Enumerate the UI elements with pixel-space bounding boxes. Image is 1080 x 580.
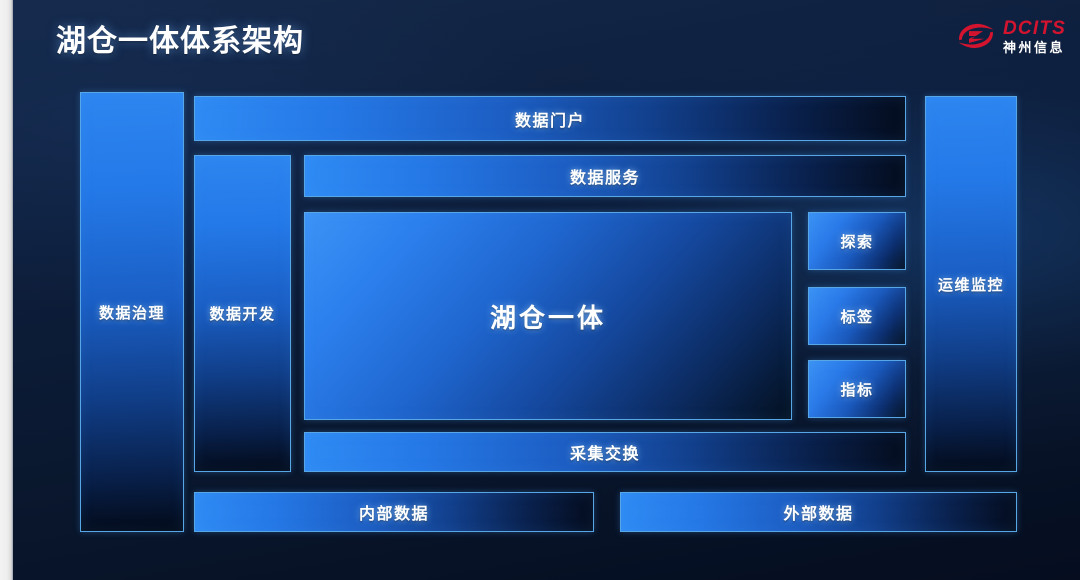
chip-explore-label: 探索: [840, 231, 873, 252]
bar-data-portal[interactable]: 数据门户: [194, 96, 906, 141]
bar-data-service-label: 数据服务: [570, 164, 640, 188]
chip-metric[interactable]: 指标: [808, 360, 906, 418]
bar-data-portal-label: 数据门户: [515, 107, 585, 131]
slide-header: 湖仓一体体系架构 DCITS 神州信息: [13, 0, 1080, 78]
chip-tag-label: 标签: [840, 306, 873, 327]
slide-left-edge-strip: [0, 0, 13, 580]
page-title: 湖仓一体体系架构: [56, 16, 304, 60]
pillar-data-development-label: 数据开发: [209, 303, 275, 324]
pillar-ops-monitoring-label: 运维监控: [938, 274, 1004, 295]
chip-metric-label: 指标: [840, 379, 873, 400]
source-internal-data[interactable]: 内部数据: [194, 492, 594, 532]
logo-english-text: DCITS: [1003, 19, 1066, 38]
bar-collection-exchange[interactable]: 采集交换: [304, 432, 906, 472]
chip-explore[interactable]: 探索: [808, 212, 906, 270]
bar-collection-exchange-label: 采集交换: [570, 440, 640, 464]
pillar-data-development[interactable]: 数据开发: [194, 155, 291, 472]
source-external-data[interactable]: 外部数据: [620, 492, 1017, 532]
dcits-swirl-icon: [955, 19, 997, 53]
slide-canvas: 湖仓一体体系架构 DCITS 神州信息 数据治理 数据门户 数据开发 数据服务: [0, 0, 1080, 580]
bar-data-service[interactable]: 数据服务: [304, 155, 906, 197]
pillar-data-governance[interactable]: 数据治理: [80, 92, 184, 532]
panel-lakehouse-core-label: 湖仓一体: [490, 298, 606, 335]
logo-chinese-text: 神州信息: [1003, 41, 1066, 54]
panel-lakehouse-core[interactable]: 湖仓一体: [304, 212, 792, 420]
chip-tag[interactable]: 标签: [808, 287, 906, 345]
pillar-data-governance-label: 数据治理: [99, 302, 165, 323]
logo-wordmark: DCITS 神州信息: [1003, 19, 1066, 54]
brand-logo: DCITS 神州信息: [955, 14, 1066, 58]
source-internal-data-label: 内部数据: [359, 500, 429, 524]
pillar-ops-monitoring[interactable]: 运维监控: [925, 96, 1017, 472]
source-external-data-label: 外部数据: [783, 500, 853, 524]
